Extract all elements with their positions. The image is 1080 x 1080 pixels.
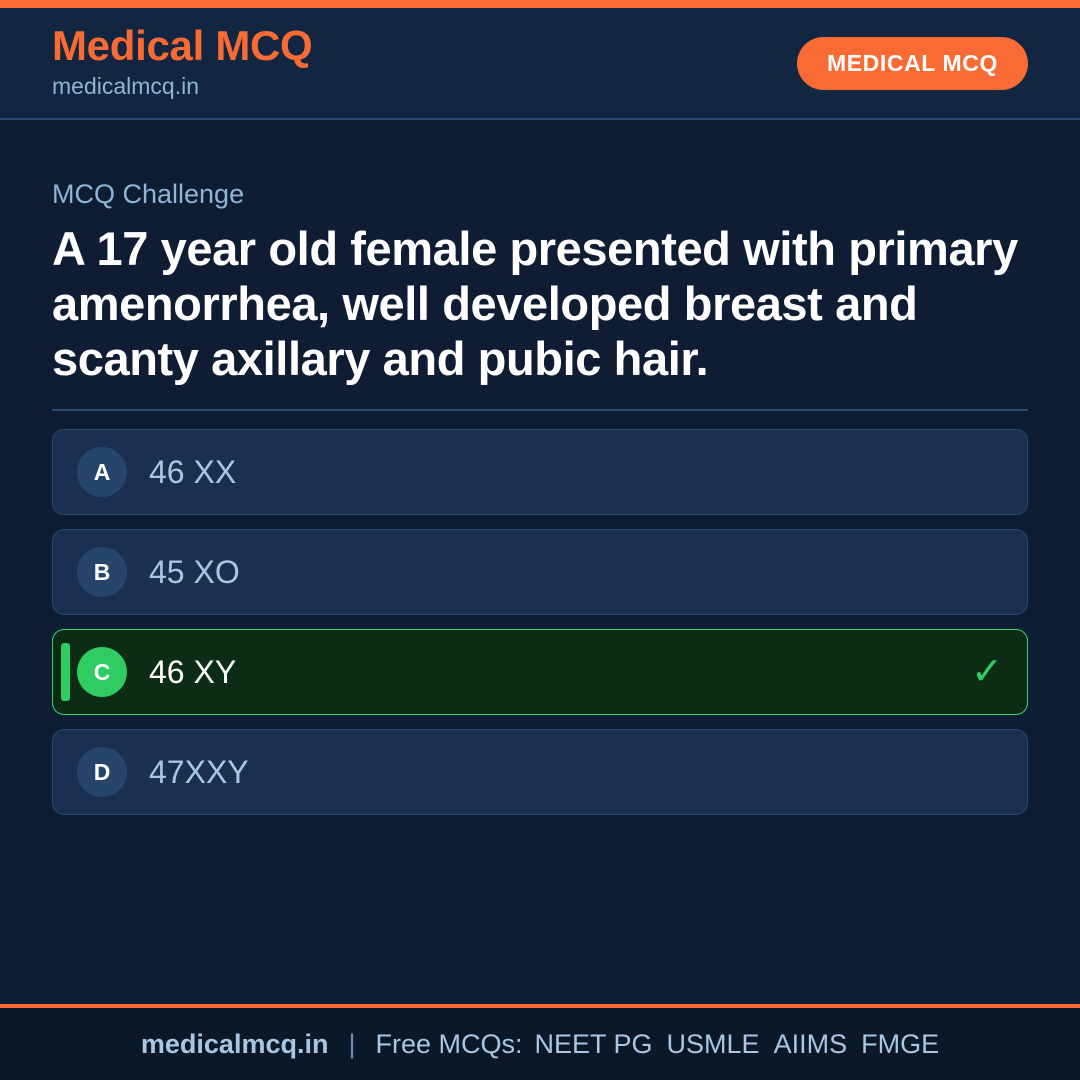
check-icon: ✓ [971,653,1003,691]
footer-label: Free MCQs: [375,1029,522,1060]
option-text: 46 XX [149,456,236,488]
option-letter-badge: C [77,647,127,697]
header: Medical MCQ medicalmcq.in MEDICAL MCQ [0,8,1080,120]
option-letter-badge: B [77,547,127,597]
option-d[interactable]: D 47XXY [52,729,1028,815]
footer-content: medicalmcq.in | Free MCQs: NEET PG USMLE… [141,1029,939,1060]
correct-accent-bar [61,643,70,701]
main-content: MCQ Challenge A 17 year old female prese… [0,120,1080,1004]
footer-exam-fmge[interactable]: FMGE [861,1029,939,1060]
option-text: 46 XY [149,656,236,688]
footer-site-link[interactable]: medicalmcq.in [141,1029,329,1060]
option-text: 47XXY [149,756,249,788]
brand-title: Medical MCQ [52,24,312,69]
mcq-card: Medical MCQ medicalmcq.in MEDICAL MCQ MC… [0,0,1080,1080]
option-text: 45 XO [149,556,240,588]
eyebrow-label: MCQ Challenge [52,178,1028,210]
footer-exam-neet-pg[interactable]: NEET PG [535,1029,653,1060]
question-text: A 17 year old female presented with prim… [52,222,1028,387]
brand: Medical MCQ medicalmcq.in [52,24,312,101]
option-a[interactable]: A 46 XX [52,429,1028,515]
header-badge: MEDICAL MCQ [797,37,1028,90]
options-list: A 46 XX B 45 XO C 46 XY ✓ D 47XXY [52,429,1028,815]
question-divider [52,409,1028,411]
footer-separator: | [348,1029,355,1060]
option-b[interactable]: B 45 XO [52,529,1028,615]
option-letter-badge: A [77,447,127,497]
footer: medicalmcq.in | Free MCQs: NEET PG USMLE… [0,1004,1080,1080]
footer-exam-usmle[interactable]: USMLE [667,1029,760,1060]
brand-subtitle: medicalmcq.in [52,72,312,102]
option-c[interactable]: C 46 XY ✓ [52,629,1028,715]
top-accent-bar [0,0,1080,8]
footer-exam-aiims[interactable]: AIIMS [774,1029,848,1060]
option-letter-badge: D [77,747,127,797]
